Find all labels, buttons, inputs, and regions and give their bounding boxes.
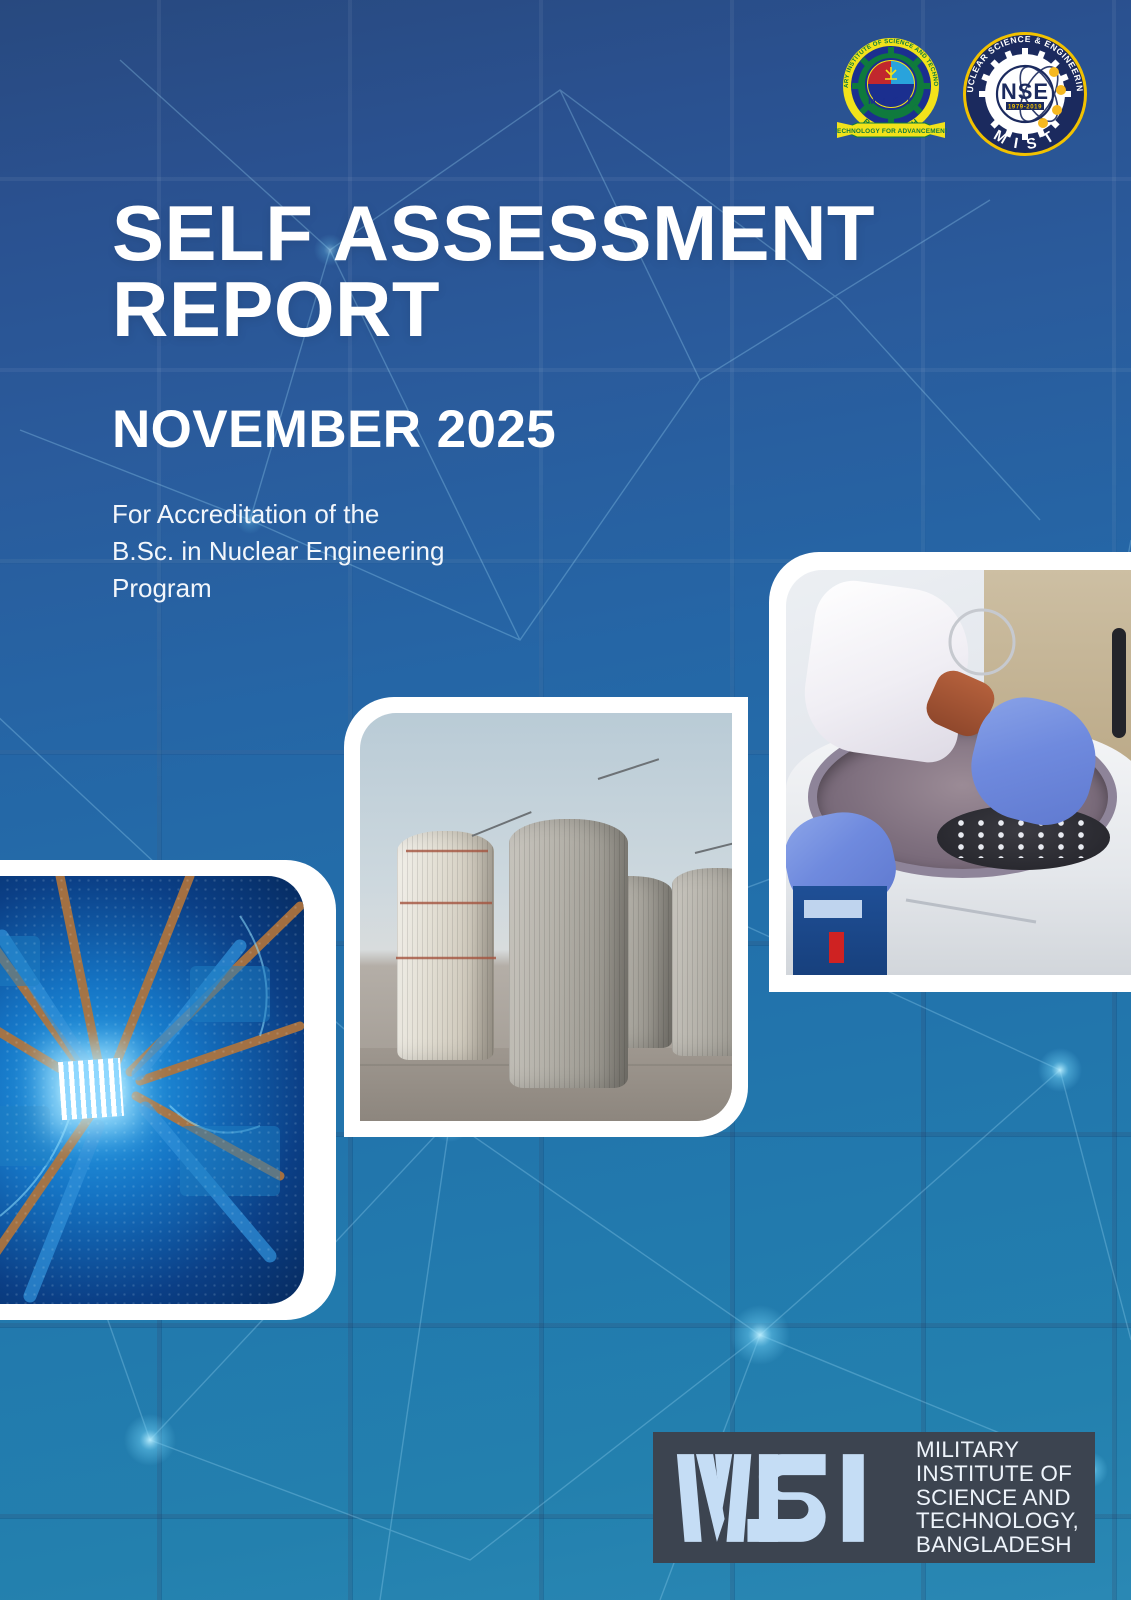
reactor-rods: [0, 876, 304, 1304]
crest-acronym: M I S T: [868, 96, 914, 106]
report-cover-page: M I S T MILITARY INSTITUTE OF SCIENCE AN…: [0, 0, 1131, 1600]
report-date: NOVEMBER 2025: [112, 399, 942, 460]
tower-banding: [360, 713, 732, 1121]
laboratory-centrifuge-photo: [786, 570, 1131, 975]
mist-wordmark: [675, 1448, 902, 1548]
crest-ribbon-text: TECHNOLOGY FOR ADVANCEMENT: [835, 128, 947, 135]
reactor-photo-frame: [0, 860, 336, 1320]
reactor-core-photo: [0, 876, 304, 1304]
nse-acronym: NSE: [1001, 79, 1049, 104]
nse-years: 1979-2019: [1008, 105, 1042, 111]
nse-logo: NSE 1979-2019 NUCLEAR SCIENCE & ENGINEER…: [961, 30, 1089, 158]
cooling-towers-photo: [360, 713, 732, 1121]
report-subtitle: For Accreditation of the B.Sc. in Nuclea…: [112, 496, 542, 607]
lab-details: [786, 570, 1131, 975]
report-title-line-1: SELF ASSESSMENT: [112, 196, 942, 272]
towers-photo-frame: [344, 697, 748, 1137]
lab-photo-frame: [769, 552, 1131, 992]
title-block: SELF ASSESSMENT REPORT NOVEMBER 2025 For…: [112, 196, 942, 607]
mist-crest-logo: M I S T MILITARY INSTITUTE OF SCIENCE AN…: [835, 34, 947, 154]
mist-footer-logo: MILITARY INSTITUTE OF SCIENCE AND TECHNO…: [653, 1432, 1095, 1563]
institution-logos: M I S T MILITARY INSTITUTE OF SCIENCE AN…: [835, 34, 1089, 158]
mist-full-name: MILITARY INSTITUTE OF SCIENCE AND TECHNO…: [916, 1438, 1079, 1557]
report-title-line-2: REPORT: [112, 272, 942, 348]
